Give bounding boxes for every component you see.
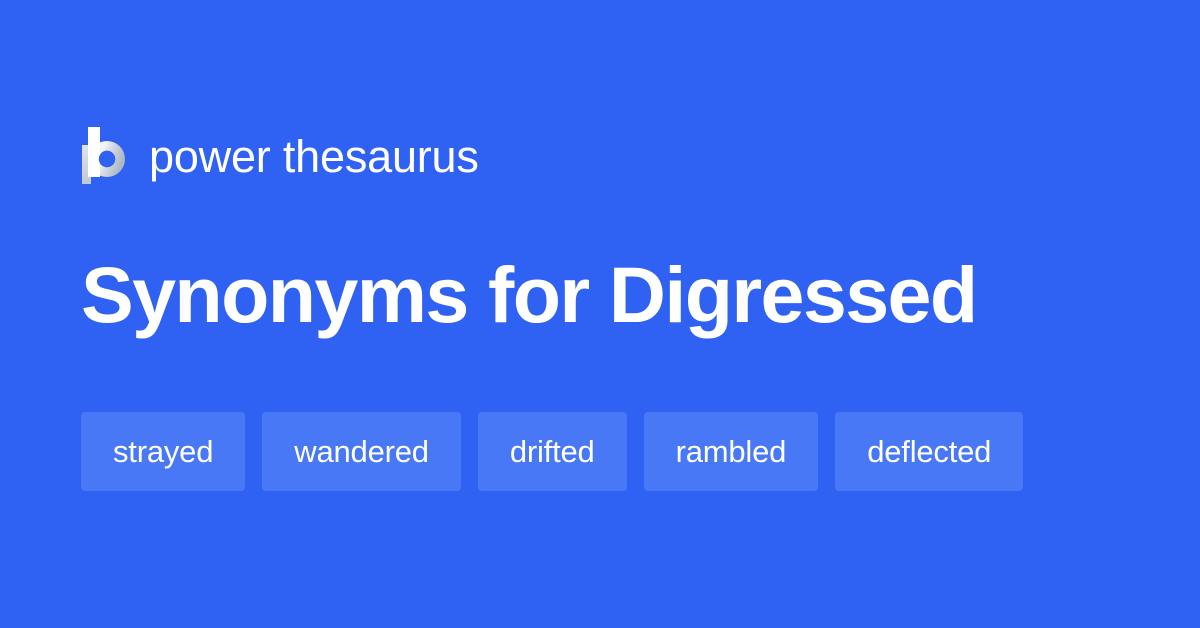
synonym-chip-drifted[interactable]: drifted [478, 412, 627, 491]
power-thesaurus-b-logo-icon [81, 127, 127, 185]
synonym-chip-wandered[interactable]: wandered [262, 412, 461, 491]
page-title: Synonyms for Digressed [81, 248, 1121, 342]
synonym-chip-deflected[interactable]: deflected [835, 412, 1023, 491]
brand-header[interactable]: power thesaurus [81, 127, 479, 185]
synonym-chip-rambled[interactable]: rambled [644, 412, 819, 491]
synonym-chip-row: strayed wandered drifted rambled deflect… [81, 412, 1023, 491]
brand-wordmark: power thesaurus [149, 134, 479, 179]
synonym-chip-strayed[interactable]: strayed [81, 412, 245, 491]
og-preview-card: power thesaurus Synonyms for Digressed s… [0, 0, 1200, 628]
